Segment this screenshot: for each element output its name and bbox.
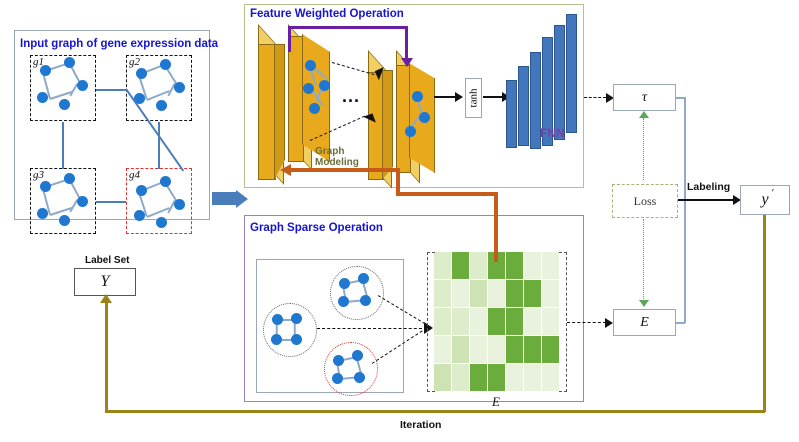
slab-graph-node — [412, 91, 423, 102]
heatmap-cell — [452, 280, 469, 307]
cluster-circle-bottom — [324, 342, 378, 396]
cluster-node — [291, 334, 302, 345]
slab-face-1a — [258, 44, 276, 180]
heatmap-cell — [506, 364, 523, 391]
graph-node — [136, 68, 147, 79]
purple-skip-connection-v1 — [288, 26, 291, 52]
label-set-caption: Label Set — [85, 255, 129, 266]
cluster-node — [360, 295, 371, 306]
heatmap-cell — [524, 336, 541, 363]
slab-side-2a — [382, 70, 393, 180]
graph-node — [37, 92, 48, 103]
orange-feedback-vertical-left — [396, 168, 400, 196]
graph-node — [64, 57, 75, 68]
tanh-label: tanh — [468, 89, 480, 108]
tau-join-top — [676, 97, 685, 99]
graph-node — [59, 215, 70, 226]
fnn-bar — [554, 25, 565, 140]
heatmap-cell — [506, 252, 523, 279]
e-label: E — [640, 315, 649, 331]
orange-feedback-arrowhead — [280, 164, 291, 176]
gene-graph-tag-g2: g2 — [129, 56, 140, 68]
slab-graph-node — [419, 112, 430, 123]
e-join-bottom — [676, 322, 685, 324]
gene-graph-tag-g4: g4 — [129, 169, 140, 181]
tau-box: τ — [613, 84, 676, 111]
fnn-bar — [566, 14, 577, 133]
inter-graph-link — [96, 201, 126, 203]
heatmap-cell — [542, 252, 559, 279]
iteration-line-vertical-right — [763, 215, 766, 412]
inter-graph-link — [62, 122, 64, 169]
graph-node — [156, 100, 167, 111]
slab-face-1b — [288, 36, 304, 162]
loss-to-tau-dotted — [643, 118, 644, 180]
graph-node — [160, 176, 171, 187]
tanh-to-fnn-line — [483, 96, 503, 98]
label-set-value: Y — [101, 273, 110, 291]
cluster-node — [333, 355, 344, 366]
heatmap-cell — [506, 336, 523, 363]
iteration-arrowhead — [100, 294, 112, 303]
label-set-box: Y — [74, 268, 136, 296]
graph-node — [40, 65, 51, 76]
output-label: y′ — [761, 191, 768, 209]
cluster-node — [332, 373, 343, 384]
loss-to-e-arrowhead — [639, 300, 649, 307]
heatmap-cell — [434, 280, 451, 307]
heatmap-cell — [452, 364, 469, 391]
slab-face-2a — [368, 72, 384, 180]
matrix-bracket-right — [559, 252, 567, 392]
cluster-node — [339, 278, 350, 289]
orange-feedback-vertical-mid — [494, 192, 498, 252]
heatmap-cell — [434, 336, 451, 363]
purple-skip-connection-v2 — [405, 26, 408, 60]
heatmap-cell — [488, 364, 505, 391]
matrix-to-e-dashed — [567, 322, 606, 323]
heatmap-cell — [542, 308, 559, 335]
heatmap-cell — [524, 252, 541, 279]
tanh-box: tanh — [465, 78, 482, 118]
fnn-bar — [506, 80, 517, 148]
graph-node — [174, 199, 185, 210]
heatmap-cell — [434, 308, 451, 335]
cluster-node — [291, 313, 302, 324]
matrix-bracket-left — [427, 252, 435, 392]
cluster-node — [272, 314, 283, 325]
heatmap-cell — [524, 364, 541, 391]
diagram-canvas: Input graph of gene expression data g1 g… — [0, 0, 799, 442]
cluster-node — [358, 273, 369, 284]
graph-node — [156, 217, 167, 228]
feature-panel-title: Feature Weighted Operation — [250, 8, 404, 20]
graph-modeling-line1: Graph — [315, 146, 344, 157]
heatmap-cell — [434, 364, 451, 391]
orange-feedback-horizontal — [396, 192, 498, 196]
slab-ellipsis: ... — [342, 86, 360, 107]
heatmap-cell — [524, 280, 541, 307]
cluster-to-matrix-dashed-mid — [317, 328, 427, 329]
graph-node — [64, 173, 75, 184]
graph-node — [77, 80, 88, 91]
tau-label: τ — [642, 90, 647, 106]
input-panel-title: Input graph of gene expression data — [20, 38, 218, 50]
graph-node — [160, 59, 171, 70]
heatmap-cell — [542, 336, 559, 363]
heatmap-cell — [452, 308, 469, 335]
output-box: y′ — [740, 185, 790, 215]
labeling-line — [678, 199, 734, 201]
slab-graph-node — [405, 126, 416, 137]
slab-side-1a — [274, 44, 285, 180]
cluster-circle-top — [330, 266, 384, 320]
graph-node — [134, 210, 145, 221]
graph-node — [40, 181, 51, 192]
iteration-line-vertical-left — [105, 302, 108, 412]
cluster-node — [338, 296, 349, 307]
orange-feedback-into-slab — [290, 168, 400, 172]
input-to-pipeline-arrow — [212, 192, 236, 205]
fnn-to-tau-dashed — [584, 97, 606, 98]
slab-to-tanh-line — [434, 96, 456, 98]
slab-graph-node — [319, 80, 330, 91]
cluster-node — [352, 350, 363, 361]
graph-node — [174, 82, 185, 93]
cluster-node — [271, 334, 282, 345]
heatmap-cell — [488, 280, 505, 307]
heatmap-cell — [470, 336, 487, 363]
loss-to-e-dotted — [643, 219, 644, 299]
slab-graph-node — [305, 60, 316, 71]
cluster-circle-left — [263, 303, 317, 357]
slab-graph-node — [303, 83, 314, 94]
inter-graph-link — [158, 122, 160, 169]
heatmap-cell — [470, 364, 487, 391]
matrix-to-e-arrowhead — [605, 318, 613, 328]
sparse-panel-title: Graph Sparse Operation — [250, 222, 383, 234]
heatmap-cell — [506, 280, 523, 307]
heatmap-cell — [470, 252, 487, 279]
graph-node — [37, 208, 48, 219]
fnn-bar — [518, 66, 529, 146]
loss-label: Loss — [634, 194, 657, 209]
slab-face-2b — [396, 65, 411, 173]
heatmap-cell — [506, 308, 523, 335]
inter-graph-link — [96, 89, 126, 91]
heatmap-cell — [452, 252, 469, 279]
slab-graph-node — [309, 103, 320, 114]
sparse-matrix-heatmap — [434, 252, 560, 392]
fnn-label: FNN — [540, 126, 565, 140]
heatmap-cell — [524, 308, 541, 335]
e-box: E — [613, 309, 676, 336]
input-to-pipeline-arrowhead — [236, 190, 248, 208]
heatmap-cell — [470, 308, 487, 335]
gene-graph-tag-g3: g3 — [33, 169, 44, 181]
heatmap-cell — [542, 364, 559, 391]
heatmap-cell — [470, 280, 487, 307]
heatmap-cell — [434, 252, 451, 279]
heatmap-cell — [488, 308, 505, 335]
graph-node — [136, 185, 147, 196]
slab-to-tanh-arrowhead — [455, 92, 463, 102]
labeling-label: Labeling — [687, 181, 730, 193]
graph-node — [77, 196, 88, 207]
iteration-line-horizontal — [105, 410, 765, 413]
loss-box: Loss — [612, 184, 678, 218]
cluster-node — [354, 372, 365, 383]
graph-modeling-label: Graph Modeling — [315, 146, 359, 168]
loss-to-tau-arrowhead — [639, 111, 649, 118]
purple-skip-connection-h — [288, 26, 408, 29]
heatmap-cell — [488, 336, 505, 363]
graph-modeling-line2: Modeling — [315, 157, 359, 168]
tau-e-join-right — [684, 97, 686, 323]
matrix-caption: E — [492, 394, 500, 410]
iteration-label: Iteration — [400, 419, 441, 431]
heatmap-cell — [452, 336, 469, 363]
heatmap-cell — [542, 280, 559, 307]
purple-skip-arrowhead — [401, 58, 413, 67]
graph-node — [59, 99, 70, 110]
